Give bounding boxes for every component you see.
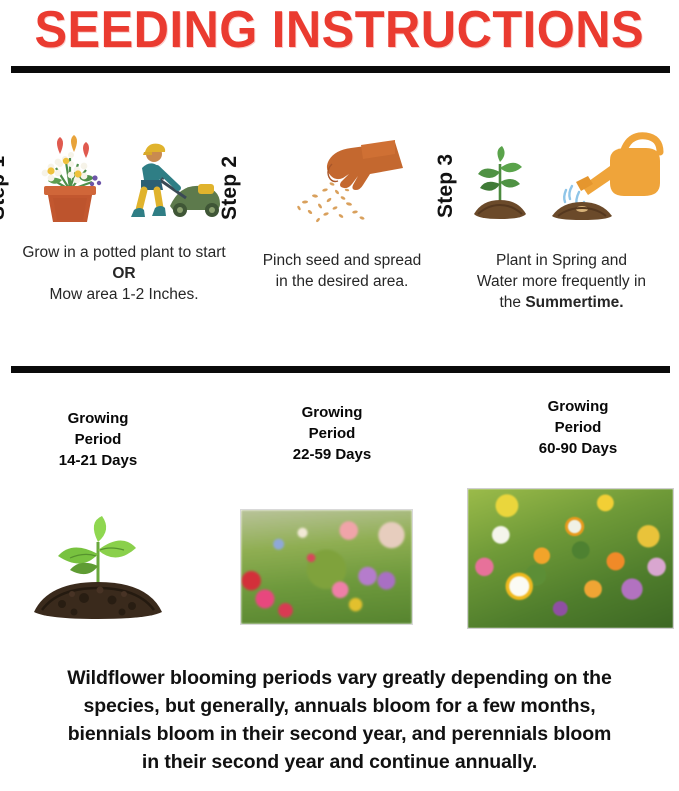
growing-period-1-days: 14-21 Days xyxy=(34,450,162,471)
step-1: Step 1 xyxy=(0,120,248,320)
divider-middle xyxy=(11,366,670,373)
growing-period-2: Growing Period 22-59 Days xyxy=(268,402,396,465)
step-2-caption: Pinch seed and spread in the desired are… xyxy=(236,250,448,292)
person-mowing-icon xyxy=(124,128,226,228)
growing-period-2-title-line2: Period xyxy=(268,423,396,444)
footer-line-3: biennials bloom in their second year, an… xyxy=(8,720,671,748)
step-1-artwork: Step 1 xyxy=(0,120,248,228)
footer-line-4: in their second year and continue annual… xyxy=(8,748,671,776)
step-3-caption-line3-bold: Summertime. xyxy=(525,294,623,311)
hand-scattering-seeds-icon xyxy=(277,124,407,228)
steps-section: Step 1 xyxy=(0,120,679,320)
growing-period-3: Growing Period 60-90 Days xyxy=(512,396,644,459)
step-3: Step 3 xyxy=(444,120,679,320)
step-3-caption-line2: Water more frequently in xyxy=(462,271,661,292)
step-2-caption-line1: Pinch seed and spread xyxy=(242,250,442,271)
flower-bouquet-image xyxy=(468,489,673,628)
step-2-label: Step 2 xyxy=(218,156,242,220)
step-3-caption: Plant in Spring and Water more frequentl… xyxy=(444,250,679,313)
step-1-caption: Grow in a potted plant to start OR Mow a… xyxy=(0,242,248,305)
page-title: SEEDING INSTRUCTIONS xyxy=(35,2,645,58)
growing-period-3-title-line2: Period xyxy=(512,417,644,438)
divider-top xyxy=(11,66,670,73)
step-1-caption-line1: Grow in a potted plant to start xyxy=(2,242,246,263)
wildflower-meadow-photo xyxy=(241,510,412,624)
step-2-artwork: Step 2 xyxy=(236,120,448,228)
seedling-in-soil-icon xyxy=(460,128,540,228)
step-3-artwork: Step 3 xyxy=(444,120,679,228)
growing-period-1-title-line2: Period xyxy=(34,429,162,450)
growing-period-1-title-line1: Growing xyxy=(34,408,162,429)
step-1-label: Step 1 xyxy=(0,156,10,220)
growing-periods-section: Growing Period 14-21 Days Growing Period… xyxy=(0,398,679,478)
growing-period-2-title-line1: Growing xyxy=(268,402,396,423)
wildflower-meadow-image xyxy=(241,510,412,624)
step-3-caption-line3-prefix: the xyxy=(499,294,525,311)
seedling-in-soil-photo xyxy=(12,488,182,626)
step-2-caption-line2: in the desired area. xyxy=(242,271,442,292)
step-2: Step 2 xyxy=(236,120,448,320)
potted-flowers-icon xyxy=(22,128,118,228)
growing-period-1: Growing Period 14-21 Days xyxy=(34,408,162,471)
step-1-caption-line3: Mow area 1-2 Inches. xyxy=(2,284,246,305)
growing-period-3-days: 60-90 Days xyxy=(512,438,644,459)
growing-period-2-days: 22-59 Days xyxy=(268,444,396,465)
footer-line-2: species, but generally, annuals bloom fo… xyxy=(8,692,671,720)
watering-can-icon xyxy=(546,124,664,228)
step-1-caption-line2: OR xyxy=(112,265,135,282)
step-3-label: Step 3 xyxy=(434,154,458,218)
footer-paragraph: Wildflower blooming periods vary greatly… xyxy=(8,664,671,776)
step-3-caption-line1: Plant in Spring and xyxy=(462,250,661,271)
flower-bouquet-photo xyxy=(468,489,673,628)
title-bar: SEEDING INSTRUCTIONS xyxy=(0,0,679,60)
growing-period-3-title-line1: Growing xyxy=(512,396,644,417)
footer-line-1: Wildflower blooming periods vary greatly… xyxy=(8,664,671,692)
